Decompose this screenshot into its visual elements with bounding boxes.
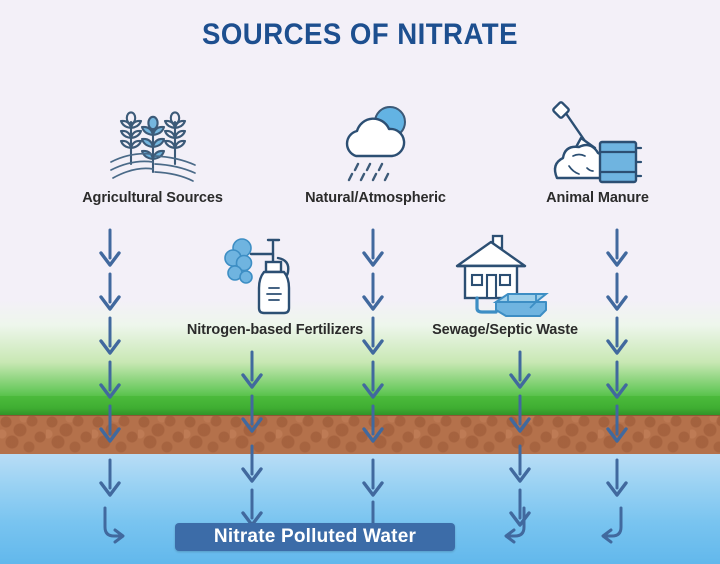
house-septic-tank-icon [390,232,620,318]
arrow-down-icon [604,360,630,400]
arrow-down-icon [97,360,123,400]
result-label: Nitrate Polluted Water [214,526,416,548]
arrow-down-icon [604,404,630,444]
arrow-down-icon [360,316,386,356]
result-banner: Nitrate Polluted Water [175,523,455,551]
source-label: Animal Manure [490,190,705,206]
arrow-down-icon [360,228,386,268]
arrow-down-icon [604,228,630,268]
arrow-down-icon [239,350,265,390]
infographic-canvas: SOURCES OF NITRATE [0,0,720,564]
page-title: SOURCES OF NITRATE [29,18,691,52]
arrow-down-icon [507,350,533,390]
arrow-down-icon [507,444,533,484]
arrow-down-icon [604,272,630,312]
arrow-down-icon [360,458,386,498]
arrow-down-icon [239,444,265,484]
arrow-down-icon [97,228,123,268]
arrow-down-icon [604,316,630,356]
arrow-down-icon [360,404,386,444]
arrow-down-icon [360,272,386,312]
source-sewage-septic-waste: Sewage/Septic Waste [390,232,620,338]
arrow-down-icon [97,272,123,312]
cloud-rain-sun-icon [243,100,508,186]
source-label: Sewage/Septic Waste [390,322,620,338]
arrow-down-icon [604,458,630,498]
arrow-down-icon [507,394,533,434]
arrow-down-icon [360,360,386,400]
arrow-curve-icon [597,505,629,545]
arrow-down-icon [239,394,265,434]
pitchfork-manure-barrel-icon [490,100,705,186]
source-natural-atmospheric: Natural/Atmospheric [243,100,508,206]
arrow-down-icon [97,316,123,356]
arrow-curve-icon [97,505,129,545]
source-animal-manure: Animal Manure [490,100,705,206]
arrow-down-icon [97,458,123,498]
arrow-down-icon [97,404,123,444]
arrow-down-icon [239,488,265,528]
arrow-curve-icon [500,505,532,545]
source-label: Natural/Atmospheric [243,190,508,206]
